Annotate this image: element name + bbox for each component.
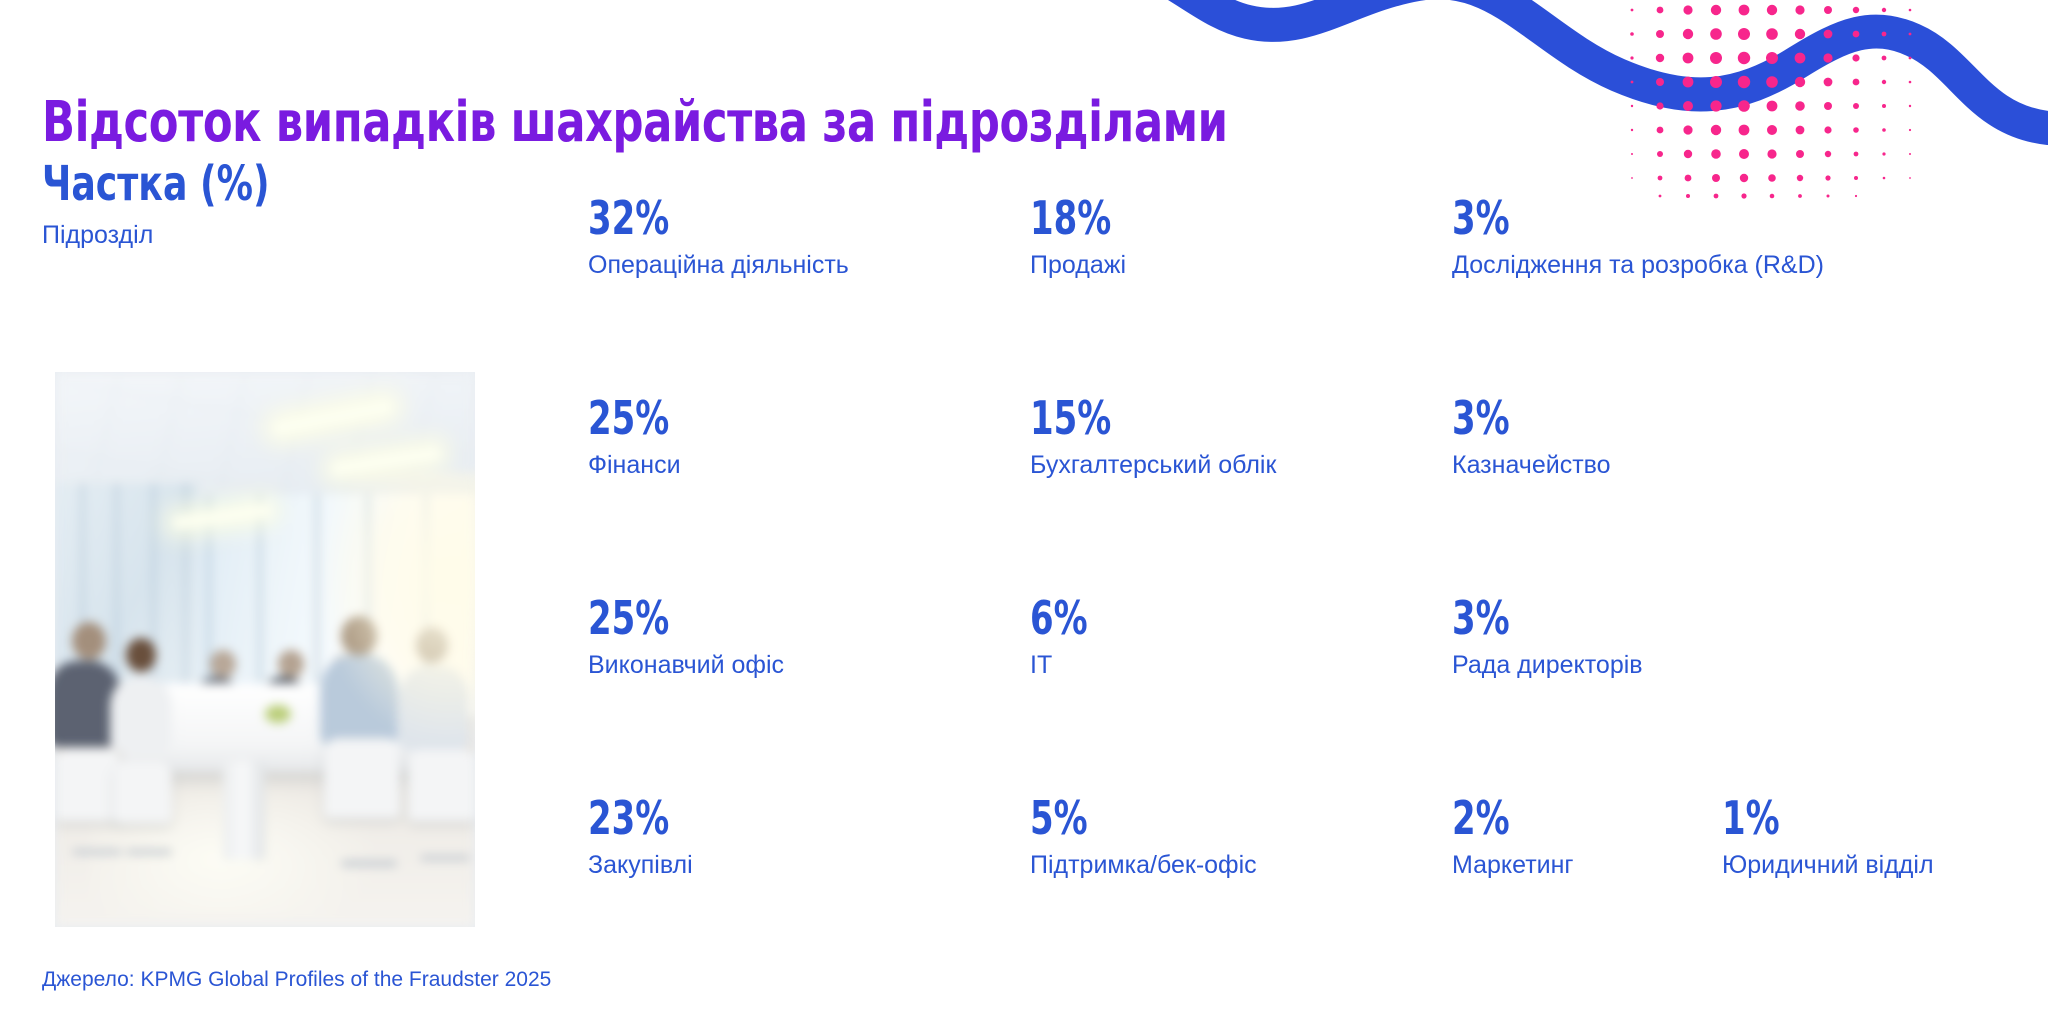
stat-percent: 6%	[1030, 595, 1088, 641]
stat-cell: 32% Операційна діяльність	[588, 195, 849, 280]
stat-cell: 3% Рада директорів	[1452, 595, 1643, 680]
stat-percent: 25%	[588, 395, 669, 441]
stat-department: IT	[1030, 651, 1100, 680]
stat-cell: 25% Виконавчий офіс	[588, 595, 784, 680]
stat-cell: 1% Юридичний відділ	[1722, 795, 1934, 880]
stat-percent: 5%	[1030, 795, 1216, 841]
stat-percent: 23%	[588, 795, 674, 841]
stat-department: Продажі	[1030, 251, 1129, 280]
stat-percent: 2%	[1452, 795, 1552, 841]
stat-department: Бухгалтерський облік	[1030, 451, 1276, 480]
stat-department: Закупівлі	[588, 851, 693, 880]
stats-grid: 32% Операційна діяльність 18% Продажі 3%…	[0, 155, 2048, 935]
stat-department: Фінанси	[588, 451, 687, 480]
stat-department: Операційна діяльність	[588, 251, 849, 280]
stat-cell: 3% Дослідження та розробка (R&D)	[1452, 195, 1824, 280]
stat-department: Рада директорів	[1452, 651, 1643, 680]
stat-department: Підтримка/бек-офіс	[1030, 851, 1257, 880]
stat-department: Дослідження та розробка (R&D)	[1452, 251, 1824, 280]
stat-percent: 18%	[1030, 195, 1111, 241]
stat-cell: 18% Продажі	[1030, 195, 1129, 280]
stat-cell: 6% IT	[1030, 595, 1100, 680]
stat-percent: 3%	[1452, 595, 1608, 641]
stat-cell: 25% Фінанси	[588, 395, 687, 480]
stat-percent: 3%	[1452, 195, 1757, 241]
stat-cell: 3% Казначейство	[1452, 395, 1611, 480]
stat-cell: 2% Маркетинг	[1452, 795, 1574, 880]
stat-department: Юридичний відділ	[1722, 851, 1934, 880]
stat-department: Виконавчий офіс	[588, 651, 784, 680]
stat-percent: 3%	[1452, 395, 1582, 441]
stat-percent: 1%	[1722, 795, 1895, 841]
source-note: Джерело: KPMG Global Profiles of the Fra…	[42, 968, 551, 992]
page-title: Відсоток випадків шахрайства за підрозді…	[42, 94, 1228, 153]
stat-department: Казначейство	[1452, 451, 1611, 480]
stat-department: Маркетинг	[1452, 851, 1574, 880]
stat-percent: 15%	[1030, 395, 1232, 441]
stat-percent: 32%	[588, 195, 802, 241]
stat-cell: 15% Бухгалтерський облік	[1030, 395, 1276, 480]
stat-percent: 25%	[588, 595, 749, 641]
stat-cell: 23% Закупівлі	[588, 795, 693, 880]
stat-cell: 5% Підтримка/бек-офіс	[1030, 795, 1257, 880]
